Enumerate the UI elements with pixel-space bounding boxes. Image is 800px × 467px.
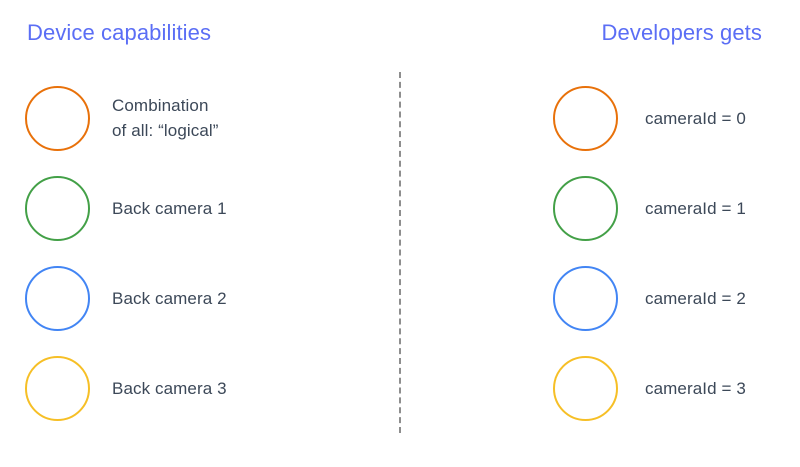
camera-id-mapping-diagram: Device capabilities Developers gets Comb… [0, 0, 800, 467]
list-item-label: Back camera 2 [112, 286, 227, 311]
circle-outline-green-icon [25, 176, 90, 241]
column-header-developers-gets: Developers gets [602, 22, 762, 44]
list-item-label: cameraId = 2 [645, 286, 746, 311]
circle-outline-green-icon [553, 176, 618, 241]
developers-gets-column: cameraId = 0 cameraId = 1 cameraId = 2 c… [553, 83, 746, 423]
list-item: Back camera 3 [25, 353, 227, 423]
list-item: Combination of all: “logical” [25, 83, 227, 153]
list-item: cameraId = 1 [553, 173, 746, 243]
list-item: cameraId = 0 [553, 83, 746, 153]
list-item-label: cameraId = 3 [645, 376, 746, 401]
circle-outline-blue-icon [553, 266, 618, 331]
list-item-label: Combination of all: “logical” [112, 93, 219, 143]
column-header-device-capabilities: Device capabilities [27, 22, 211, 44]
list-item-label: Back camera 3 [112, 376, 227, 401]
circle-outline-yellow-icon [553, 356, 618, 421]
circle-outline-blue-icon [25, 266, 90, 331]
list-item: cameraId = 2 [553, 263, 746, 333]
list-item: Back camera 2 [25, 263, 227, 333]
circle-outline-yellow-icon [25, 356, 90, 421]
vertical-dashed-divider [399, 72, 401, 433]
circle-outline-orange-icon [553, 86, 618, 151]
list-item-label: Back camera 1 [112, 196, 227, 221]
list-item-label: cameraId = 0 [645, 106, 746, 131]
device-capabilities-column: Combination of all: “logical” Back camer… [25, 83, 227, 423]
circle-outline-orange-icon [25, 86, 90, 151]
list-item: Back camera 1 [25, 173, 227, 243]
list-item: cameraId = 3 [553, 353, 746, 423]
list-item-label: cameraId = 1 [645, 196, 746, 221]
